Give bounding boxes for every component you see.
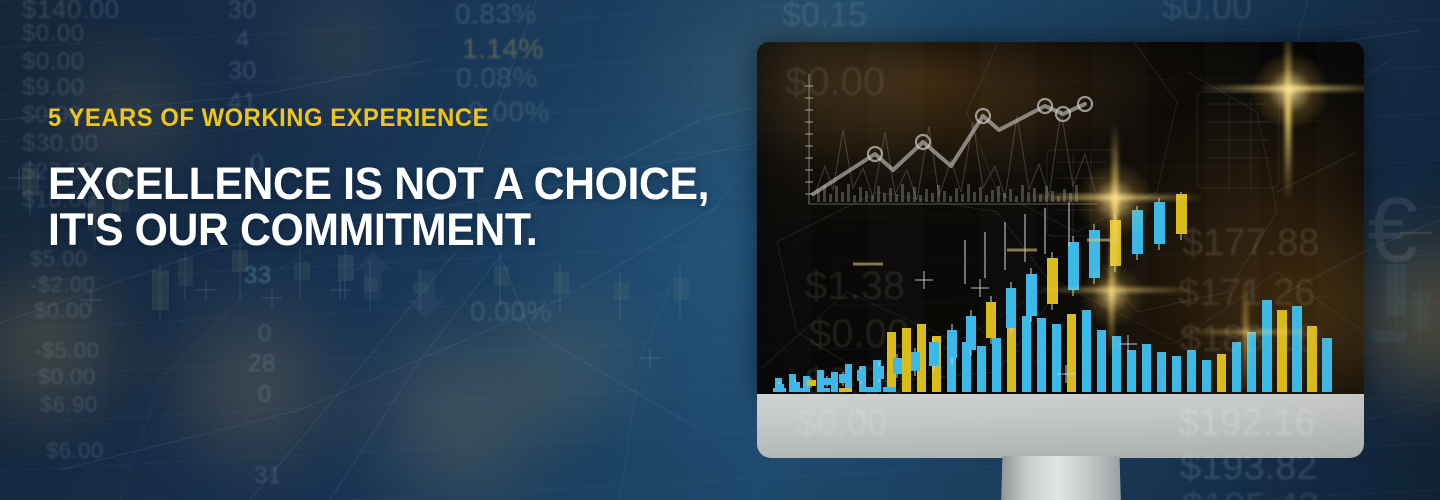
monitor-stand bbox=[1000, 456, 1122, 500]
banner-root: $140.00 $0.00 $0.00 $9.00 $0.00 $30.00 $… bbox=[0, 0, 1440, 500]
headline-line-1: EXCELLENCE IS NOT A CHOICE, bbox=[48, 161, 709, 207]
page-title: EXCELLENCE IS NOT A CHOICE, IT'S OUR COM… bbox=[48, 161, 709, 253]
headline-line-2: IT'S OUR COMMITMENT. bbox=[48, 207, 709, 253]
euro-currency-symbol: € bbox=[1367, 178, 1418, 283]
banner-copy: 5 YEARS OF WORKING EXPERIENCE EXCELLENCE… bbox=[48, 104, 744, 253]
eyebrow-text: 5 YEARS OF WORKING EXPERIENCE bbox=[48, 104, 709, 133]
bezel-ghost-text: $0.00 bbox=[797, 402, 887, 444]
